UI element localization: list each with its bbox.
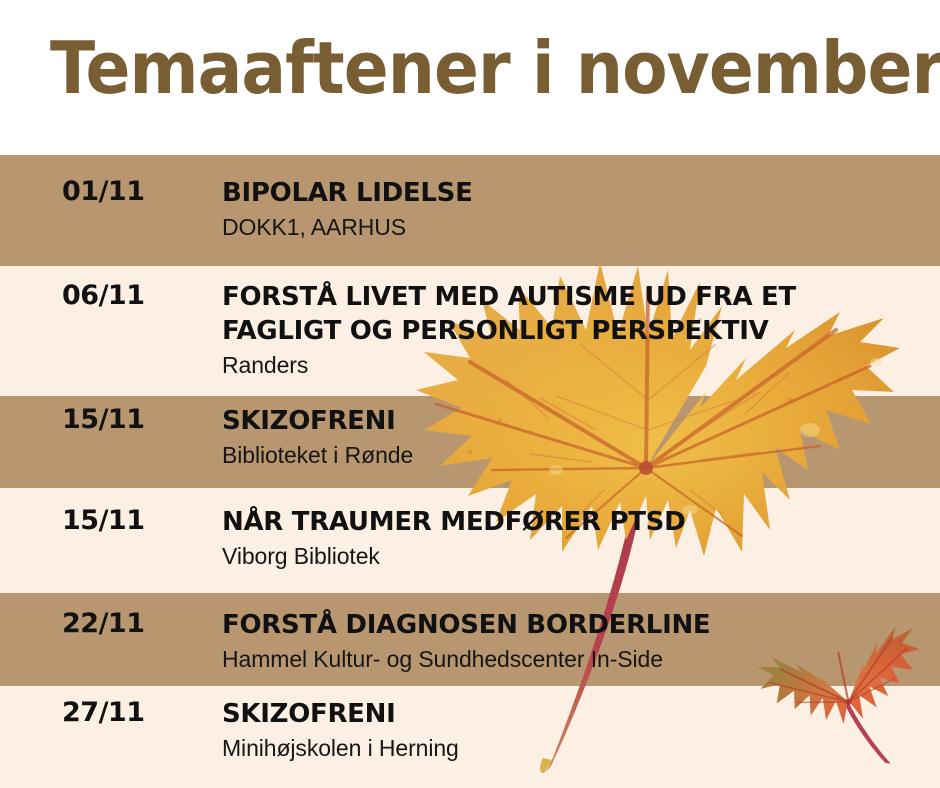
event-details: FORSTÅ LIVET MED AUTISME UD FRA ET FAGLI…	[222, 280, 922, 380]
event-date: 06/11	[62, 280, 145, 312]
event-title: FORSTÅ LIVET MED AUTISME UD FRA ET FAGLI…	[222, 280, 922, 348]
event-title: NÅR TRAUMER MEDFØRER PTSD	[222, 505, 922, 539]
event-venue: Viborg Bibliotek	[222, 541, 922, 571]
event-date: 22/11	[62, 608, 145, 640]
event-date: 15/11	[62, 505, 145, 537]
event-venue: Randers	[222, 350, 922, 380]
page-title: Temaaftener i november	[50, 26, 940, 110]
event-title: FORSTÅ DIAGNOSEN BORDERLINE	[222, 608, 922, 642]
event-date: 01/11	[62, 176, 145, 208]
event-venue: Hammel Kultur- og Sundhedscenter In-Side	[222, 644, 922, 674]
event-date: 27/11	[62, 697, 145, 729]
poster-header: Temaaftener i november	[0, 0, 940, 155]
event-venue: DOKK1, AARHUS	[222, 212, 922, 242]
event-details: SKIZOFRENI Minihøjskolen i Herning	[222, 697, 922, 763]
event-title: BIPOLAR LIDELSE	[222, 176, 922, 210]
event-title: SKIZOFRENI	[222, 404, 922, 438]
event-details: SKIZOFRENI Biblioteket i Rønde	[222, 404, 922, 470]
event-venue: Biblioteket i Rønde	[222, 440, 922, 470]
event-details: NÅR TRAUMER MEDFØRER PTSD Viborg Bibliot…	[222, 505, 922, 571]
event-details: FORSTÅ DIAGNOSEN BORDERLINE Hammel Kultu…	[222, 608, 922, 674]
event-date: 15/11	[62, 404, 145, 436]
poster-canvas: Temaaftener i november 01/11 BIPOLAR LID…	[0, 0, 940, 788]
event-venue: Minihøjskolen i Herning	[222, 733, 922, 763]
event-title: SKIZOFRENI	[222, 697, 922, 731]
event-details: BIPOLAR LIDELSE DOKK1, AARHUS	[222, 176, 922, 242]
